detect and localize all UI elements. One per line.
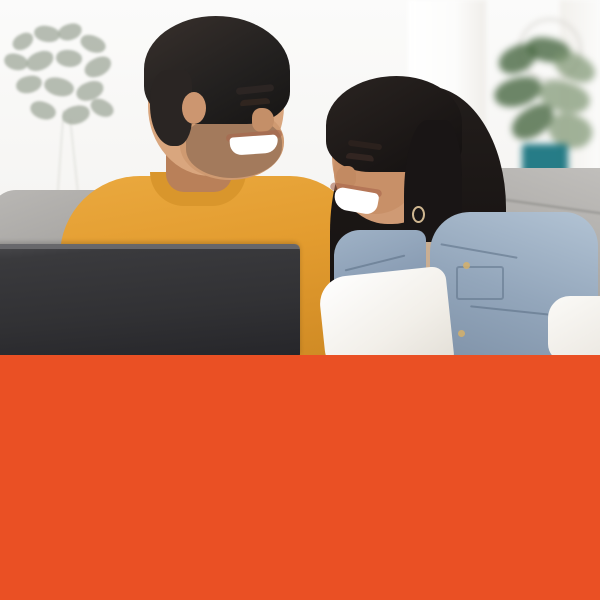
jacket-button — [463, 262, 470, 269]
man-nose — [252, 108, 274, 132]
lifestyle-photo — [0, 0, 600, 355]
laptop-hinge-edge — [0, 244, 300, 249]
laptop — [0, 244, 300, 355]
man-ear — [182, 92, 206, 124]
product-marketing-card: MOOD SUPPORT FORMULA* Ashwagandha and Ar… — [0, 0, 600, 600]
jacket-button — [458, 330, 465, 337]
woman-earring — [412, 206, 425, 223]
throw-pillow — [317, 266, 454, 355]
jacket-pocket — [456, 266, 504, 300]
photo-scene — [0, 0, 600, 355]
eucalyptus-branches — [4, 24, 130, 199]
houseplant — [492, 38, 600, 180]
orange-message-panel: MOOD SUPPORT FORMULA* Ashwagandha and Ar… — [0, 355, 600, 600]
throw-pillow-secondary — [548, 296, 600, 355]
